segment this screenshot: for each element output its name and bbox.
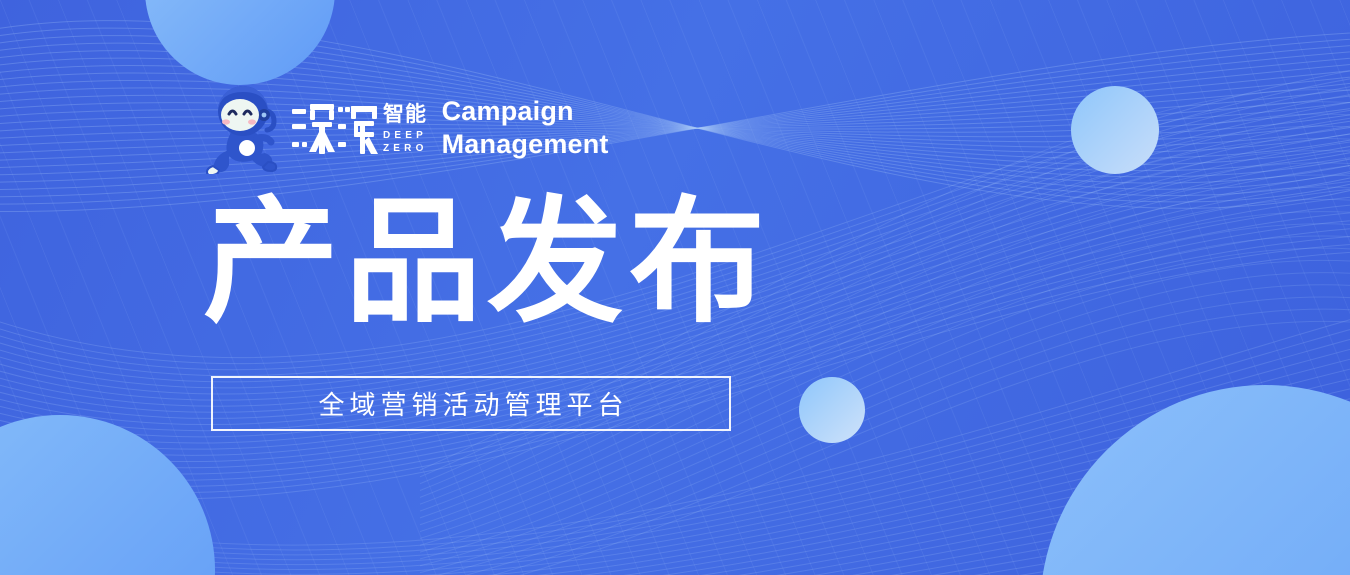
brand-sub-en-line1: DEEP — [383, 129, 428, 142]
brand-logo-lockup: 智能 DEEP ZERO Campaign Management — [205, 80, 609, 176]
brand-sub-en: DEEP ZERO — [383, 129, 428, 155]
robot-mascot-icon — [205, 82, 285, 174]
product-launch-banner: 智能 DEEP ZERO Campaign Management 产品发布 全域… — [0, 0, 1350, 575]
banner-content: 智能 DEEP ZERO Campaign Management 产品发布 全域… — [0, 0, 1350, 575]
shenyan-wordmark-icon — [291, 98, 379, 158]
product-name-line2: Management — [442, 128, 609, 161]
brand-sub-cn: 智能 — [383, 103, 428, 126]
brand-sub-lockup: 智能 DEEP ZERO — [383, 101, 428, 155]
subtitle-text: 全域营销活动管理平台 — [313, 385, 628, 422]
product-name-line1: Campaign — [442, 95, 609, 128]
subtitle-box: 全域营销活动管理平台 — [211, 376, 731, 431]
brand-sub-en-line2: ZERO — [383, 142, 428, 155]
product-name: Campaign Management — [442, 95, 609, 161]
page-title: 产品发布 — [203, 188, 771, 338]
